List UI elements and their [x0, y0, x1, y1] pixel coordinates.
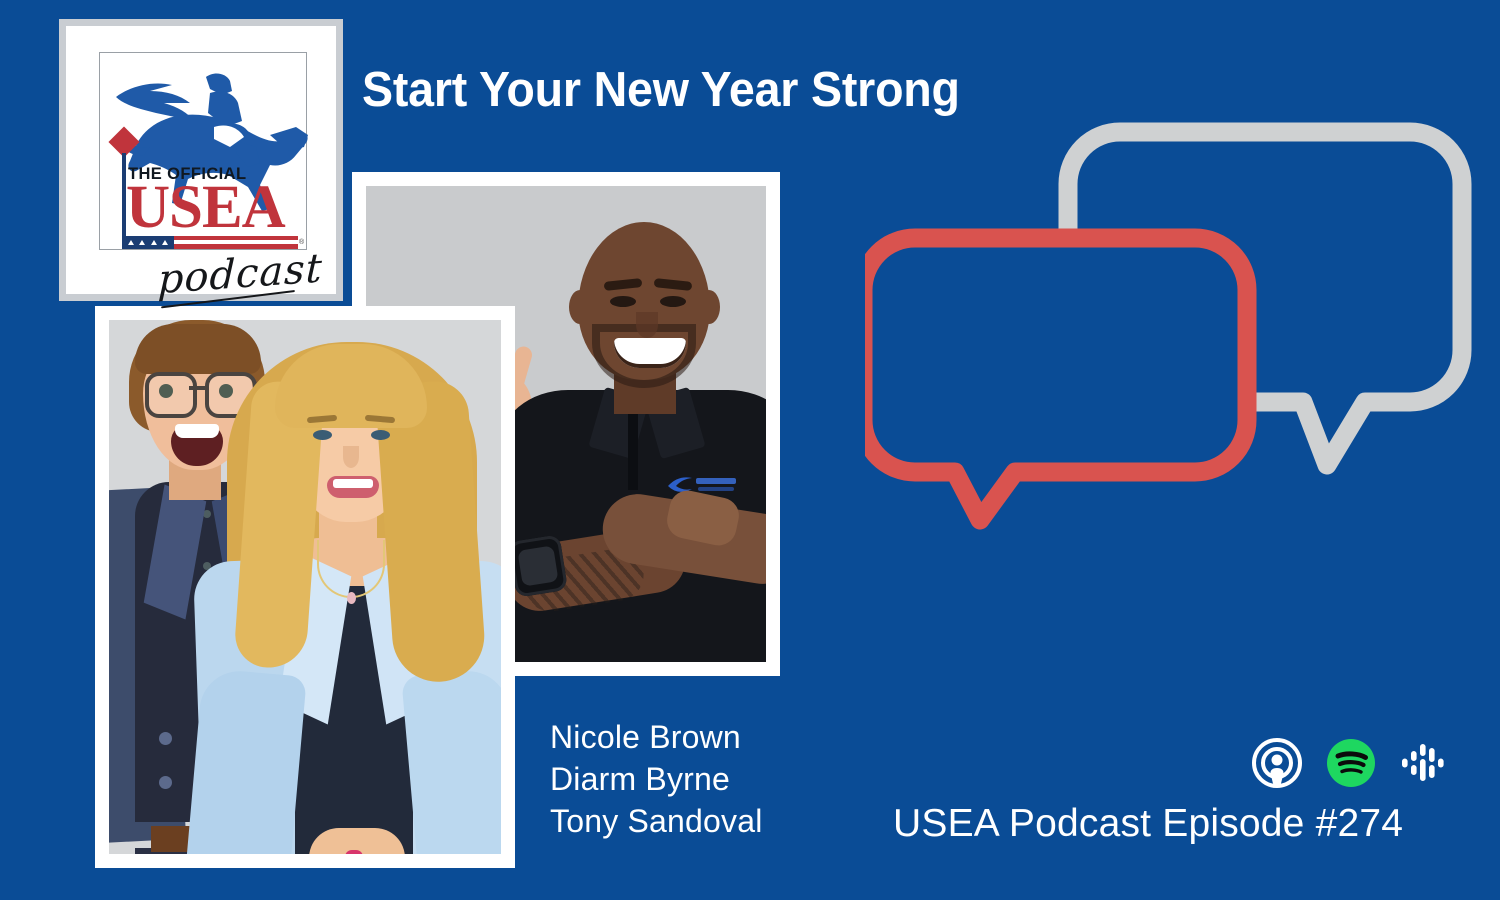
nicole-sleeve-left — [183, 668, 307, 854]
usea-logo-frame: THE OFFICIAL USEA ® podcast — [99, 52, 307, 250]
diarm-glasses-bridge — [189, 386, 205, 390]
tony-ear-left — [569, 290, 591, 324]
logo-registered-mark: ® — [299, 239, 304, 246]
page-title: Start Your New Year Strong — [362, 62, 960, 118]
nicole-sleeve-right — [401, 668, 501, 854]
guest-name: Tony Sandoval — [550, 800, 763, 842]
logo-flag-stars — [122, 236, 174, 249]
photo-card-hosts — [95, 306, 515, 868]
speech-bubbles-svg — [865, 120, 1475, 530]
portrait-nicole-brown — [233, 342, 501, 854]
logo-podcast-script-text: podcast — [157, 245, 323, 303]
spotify-icon[interactable] — [1326, 738, 1376, 788]
tony-eye-left — [610, 296, 636, 307]
nicole-eye-left — [313, 430, 332, 440]
episode-label: USEA Podcast Episode #274 — [893, 802, 1403, 846]
guest-name-list: Nicole Brown Diarm Byrne Tony Sandoval — [550, 716, 763, 842]
diarm-glasses-left-lens — [145, 372, 197, 418]
podcast-episode-graphic: Start Your New Year Strong — [0, 0, 1500, 900]
apple-podcasts-icon[interactable] — [1252, 738, 1302, 788]
tony-shirt-placket — [628, 414, 638, 490]
logo-brand-text: USEA — [126, 177, 285, 238]
diarm-jacket-buttons — [159, 732, 172, 745]
nicole-eye-right — [371, 430, 390, 440]
guest-name: Diarm Byrne — [550, 758, 763, 800]
nicole-nail-polish — [345, 850, 363, 854]
logo-flag-stripes — [174, 236, 298, 249]
google-podcasts-icon[interactable] — [1400, 738, 1450, 788]
nicole-teeth — [333, 479, 373, 488]
nicole-nose — [343, 446, 359, 468]
tony-ear-right — [698, 290, 720, 324]
tony-smartwatch — [508, 534, 568, 597]
photo-area-left — [109, 320, 501, 854]
tony-nose — [636, 312, 658, 338]
red-speech-bubble-icon — [865, 238, 1247, 520]
usea-podcast-logo-card: THE OFFICIAL USEA ® podcast — [66, 26, 336, 294]
logo-flag-bar — [122, 236, 298, 249]
guest-name: Nicole Brown — [550, 716, 763, 758]
tony-eye-right — [660, 296, 686, 307]
diarm-teeth — [175, 424, 219, 438]
platform-icon-row — [1252, 738, 1450, 788]
speech-bubbles-decoration — [865, 120, 1475, 530]
